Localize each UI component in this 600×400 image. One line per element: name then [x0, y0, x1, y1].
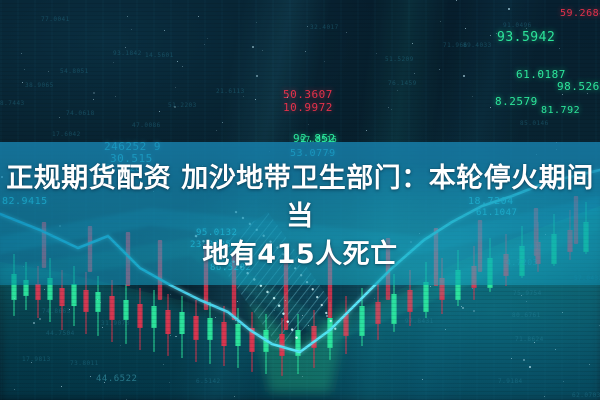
ticker-value-faint: 32.4017 [310, 24, 339, 31]
ticker-value-faint: 77.0041 [41, 16, 70, 23]
ticker-value-faint: 85.0146 [520, 120, 549, 127]
headline-text: 正规期货配资 加沙地带卫生部门：本轮停火期间当 地有415人死亡 [0, 160, 600, 274]
ticker-value: 93.5942 [497, 30, 555, 45]
ticker-value-faint: 44.7504 [46, 330, 75, 337]
ticker-value-faint: 74.0618 [66, 110, 95, 117]
ticker-value: 59.2684 [560, 8, 600, 19]
ticker-value-faint: 54.8051 [60, 68, 89, 75]
ticker-value: 50.3607 [283, 88, 333, 101]
ticker-value-faint: 91.0496 [503, 22, 532, 29]
ticker-value-faint: 76.1459 [388, 80, 417, 87]
headline-line-2: 地有415人死亡 [6, 236, 594, 274]
ticker-value-faint: 89.4033 [463, 42, 492, 49]
ticker-value-faint: 75.9754 [513, 290, 542, 297]
ticker-value-faint: 7.9184 [498, 378, 523, 385]
ticker-value: 8.2579 [495, 95, 538, 108]
ticker-value-faint: 6.5142 [196, 378, 221, 385]
ticker-value-faint: 17.6042 [52, 131, 81, 138]
ticker-value-faint: 62.0703 [572, 392, 600, 399]
ticker-value: 44.6522 [96, 374, 137, 384]
ticker-value-faint: 51.5209 [385, 56, 414, 63]
news-thumbnail-image: 93.594261.018798.52638.257981.79250.3607… [0, 0, 600, 400]
ticker-value-faint: 31.9073 [101, 320, 130, 327]
ticker-value: 98.5263 [557, 80, 600, 93]
ticker-value-faint: 14.5601 [145, 52, 174, 59]
ticker-value-faint: 97.8431 [405, 318, 434, 325]
headline-line-1: 正规期货配资 加沙地带卫生部门：本轮停火期间当 [6, 160, 594, 236]
ticker-value-faint: 73.8011 [70, 360, 99, 367]
ticker-value-faint: 21.6113 [216, 88, 245, 95]
ticker-value-faint: 80.6761 [512, 312, 541, 319]
ticker-value-faint: 71.8624 [515, 336, 544, 343]
ticker-value-faint: 93.1842 [113, 50, 142, 57]
ticker-value-faint: 8.7443 [0, 100, 25, 107]
ticker-value-faint: 17.9813 [22, 356, 51, 363]
ticker-value-faint: 38.9065 [25, 82, 54, 89]
ticker-value: 10.9972 [283, 101, 333, 114]
ticker-value-faint: 47.0086 [132, 122, 161, 129]
ticker-value: 81.792 [541, 105, 580, 116]
ticker-value-faint: 51.2203 [168, 102, 197, 109]
ticker-value-faint: 74.8663 [42, 308, 71, 315]
